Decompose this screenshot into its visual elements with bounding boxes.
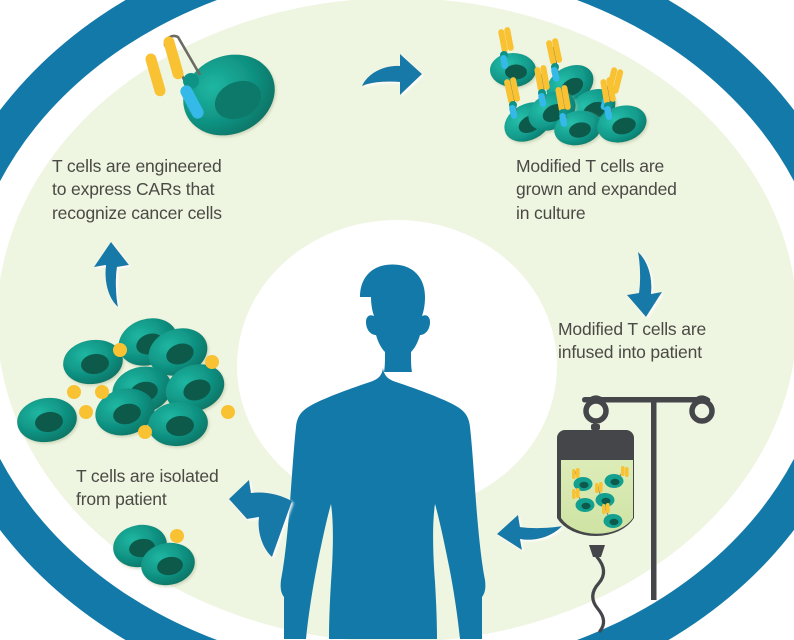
caption-step-engineered: T cells are engineered to express CARs t… [52,155,282,225]
arrow-down-icon [627,252,662,317]
infographic-canvas: T cells are engineered to express CARs t… [0,0,794,640]
arrow-right-icon [362,54,422,95]
caption-step-isolated: T cells are isolated from patient [76,465,291,512]
arrow-up-icon [94,242,129,307]
caption-step-grown: Modified T cells are grown and expanded … [516,155,731,225]
arrow-left-lower-right-icon [497,515,562,550]
caption-step-infused: Modified T cells are infused into patien… [558,318,783,365]
